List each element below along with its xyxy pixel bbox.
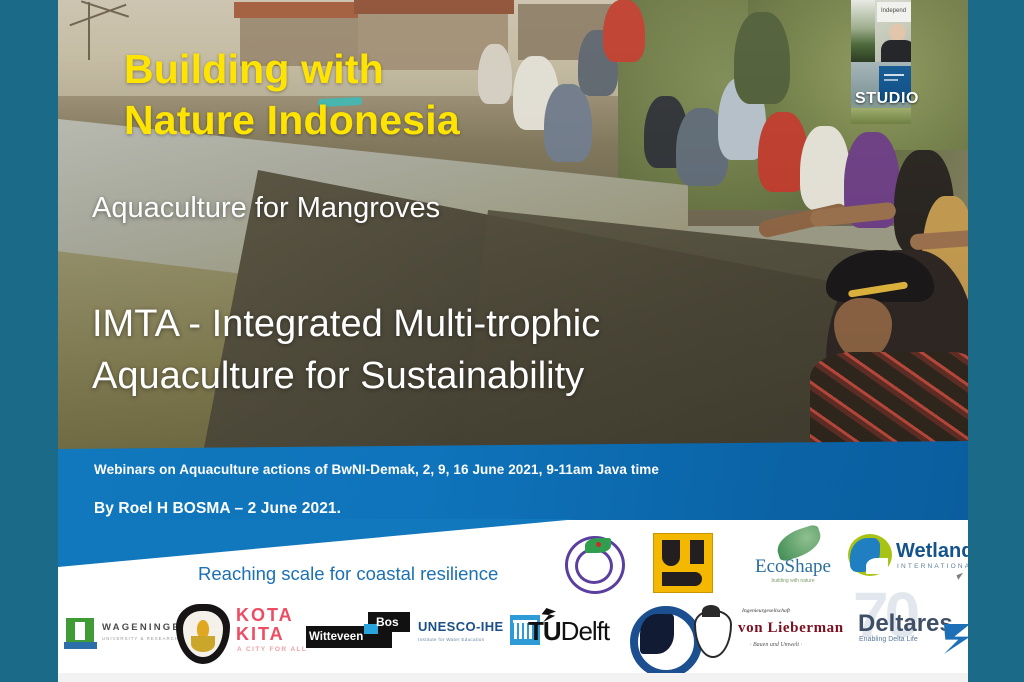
emblem-dot (596, 542, 601, 547)
tudelft-tu: TU (528, 616, 561, 646)
studio-caption: STUDIO (855, 90, 919, 108)
wetlands-sublabel: INTERNATIONAL (897, 563, 968, 570)
brand-title: Building with Nature Indonesia (124, 44, 644, 147)
slide-photo: Building with Nature Indonesia Aquacultu… (58, 0, 968, 452)
participant-thumbnail-presenter[interactable]: Independ (851, 0, 911, 62)
wetlands-mark-icon (866, 558, 888, 574)
blue-forests-inner-icon (640, 614, 674, 654)
von-lieberman-crest-icon (702, 605, 720, 617)
blue-forests-logo (628, 604, 692, 666)
deltares-sublabel: Enabling Delta Life (859, 636, 918, 643)
von-lieberman-sublabel-bottom: · Bauen und Umwelt · (750, 642, 802, 648)
thumbnail-wall (851, 0, 875, 62)
wetlands-wordmark: Wetlands (896, 540, 968, 563)
deltares-wordmark: Deltares (858, 610, 953, 638)
witteveen-wordmark: Witteveen (309, 631, 363, 643)
kota-kita-sublabel: A CITY FOR ALL (237, 646, 307, 653)
video-call-screen: Building with Nature Indonesia Aquacultu… (0, 0, 1024, 682)
ecoshape-sublabel: building with nature (738, 578, 848, 584)
slide-main-title: IMTA - Integrated Multi-trophic Aquacult… (92, 298, 812, 403)
yellow-logo-glyph (662, 572, 702, 586)
thumbnail-person-head (889, 24, 906, 41)
thumbnail-caption: Independ (881, 8, 906, 14)
unesco-ihe-wordmark: UNESCO-IHE (418, 619, 504, 634)
tu-delft-logo: TUDelft (528, 608, 638, 654)
wageningen-mark-icon (64, 642, 97, 649)
deltares-mark-icon (944, 624, 968, 654)
universitas-diponegoro-logo (176, 604, 230, 664)
kota-kita-wordmark: KOTA KITA (236, 606, 294, 644)
mmaf-indonesia-logo (563, 532, 625, 594)
witteveen-bos-logo: Witteveen Bos (306, 612, 416, 652)
unesco-ihe-sublabel: Institute for Water Education (418, 637, 485, 642)
presentation-slide: Building with Nature Indonesia Aquacultu… (58, 0, 968, 673)
yellow-logo-glyph (690, 540, 704, 564)
thumbnail-screen-text (884, 74, 904, 76)
presenter-text: By Roel H BOSMA – 2 June 2021. (94, 500, 341, 518)
von-lieberman-wordmark: von Lieberman (738, 620, 844, 637)
wageningen-mark-icon (75, 622, 85, 640)
deltares-logo: Deltares Enabling Delta Life (858, 610, 968, 658)
von-lieberman-sublabel-top: Ingenieurgesellschaft (742, 608, 790, 614)
slide-bottom-strip (58, 673, 968, 682)
tudelft-delft: Delft (561, 616, 609, 646)
wageningen-sublabel: UNIVERSITY & RESEARCH (102, 636, 179, 641)
yellow-logo-glyph (662, 540, 680, 566)
slide-tagline: Reaching scale for coastal resilience (198, 563, 498, 585)
webinar-schedule-text: Webinars on Aquaculture actions of BwNI-… (94, 462, 659, 477)
wetlands-international-logo: Wetlands INTERNATIONAL (848, 530, 968, 592)
von-lieberman-crest-icon (694, 610, 732, 658)
ecoshape-wordmark: EcoShape (738, 556, 848, 578)
von-lieberman-logo: Ingenieurgesellschaft von Lieberman · Ba… (694, 604, 854, 660)
emblem-ring-inner (575, 548, 613, 584)
thumbnail-person-body (881, 40, 911, 62)
slide-subtitle: Aquaculture for Mangroves (92, 192, 772, 225)
thumbnail-grass (851, 108, 911, 124)
partner-yellow-logo (653, 533, 713, 593)
undip-emblem-icon (191, 636, 215, 652)
ecoshape-logo: EcoShape building with nature (738, 530, 848, 592)
witteveen-bos-wordmark: Bos (376, 615, 399, 629)
thumbnail-screen-text (884, 79, 898, 81)
tudelft-wordmark: TUDelft (528, 616, 609, 647)
